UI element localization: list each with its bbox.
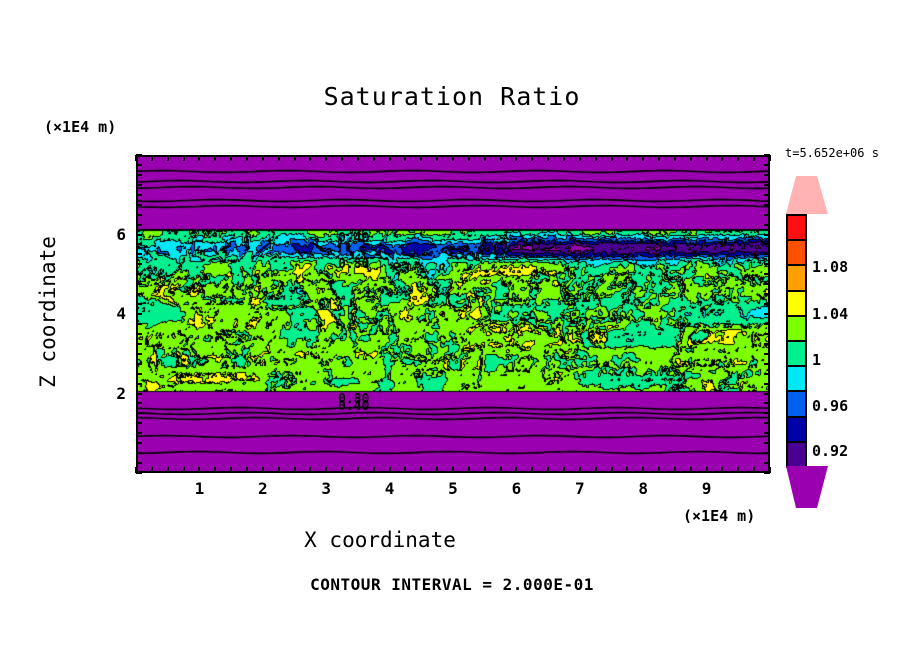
- y-axis-tick-label: 4: [104, 304, 126, 323]
- y-axis-tick: [136, 412, 142, 414]
- x-axis-tick: [674, 467, 676, 473]
- x-axis-tick: [737, 467, 739, 473]
- y-axis-tick: [764, 164, 770, 166]
- colorbar-segment[interactable]: [786, 390, 807, 417]
- x-axis-tick-label: 4: [375, 479, 405, 498]
- y-axis-tick: [764, 224, 770, 226]
- x-axis-tick: [706, 155, 708, 161]
- y-axis-tick: [764, 422, 770, 424]
- y-axis-tick: [764, 243, 770, 245]
- x-axis-tick: [626, 467, 628, 473]
- x-axis-tick: [373, 467, 375, 473]
- y-axis-tick: [764, 313, 770, 315]
- x-axis-tick: [515, 155, 517, 161]
- x-axis-tick: [183, 467, 185, 473]
- x-axis-tick: [452, 467, 454, 473]
- x-axis-tick: [309, 467, 311, 473]
- x-axis-tick: [563, 155, 565, 161]
- y-axis-tick: [764, 253, 770, 255]
- y-axis-tick: [136, 313, 142, 315]
- y-axis-tick: [136, 363, 142, 365]
- x-axis-tick: [595, 155, 597, 161]
- contour-level-label: 0.80: [338, 257, 369, 272]
- y-axis-tick: [136, 472, 142, 474]
- x-axis-tick: [214, 467, 216, 473]
- y-axis-tick: [764, 204, 770, 206]
- colorbar-tick-label: 1.04: [812, 305, 848, 323]
- x-axis-tick: [436, 155, 438, 161]
- x-axis-tick-label: 3: [311, 479, 341, 498]
- colorbar-segment[interactable]: [786, 365, 807, 392]
- y-axis-tick: [136, 154, 142, 156]
- y-axis-tick: [136, 243, 142, 245]
- x-axis-tick: [341, 155, 343, 161]
- contour-field-canvas: [138, 157, 768, 471]
- contour-interval-caption: CONTOUR INTERVAL = 2.000E-01: [0, 575, 904, 594]
- x-axis-tick: [642, 467, 644, 473]
- x-axis-tick: [246, 155, 248, 161]
- y-axis-tick: [136, 293, 142, 295]
- x-axis-tick: [198, 155, 200, 161]
- y-axis-tick: [136, 253, 142, 255]
- x-axis-tick: [214, 155, 216, 161]
- colorbar-segment[interactable]: [786, 264, 807, 291]
- colorbar-tick-label: 1.08: [812, 258, 848, 276]
- colorbar-segment[interactable]: [786, 239, 807, 266]
- x-axis-tick: [230, 467, 232, 473]
- y-axis-tick: [136, 393, 142, 395]
- y-axis-tick: [136, 184, 142, 186]
- x-axis-tick-label: 1: [184, 479, 214, 498]
- x-axis-tick: [547, 467, 549, 473]
- colorbar-segment[interactable]: [786, 441, 807, 468]
- x-axis-tick: [325, 155, 327, 161]
- y-axis-tick: [136, 234, 142, 236]
- x-axis-tick: [373, 155, 375, 161]
- y-axis-tick: [764, 452, 770, 454]
- x-axis-tick: [690, 467, 692, 473]
- x-axis-tick: [500, 467, 502, 473]
- y-axis-tick: [764, 293, 770, 295]
- x-axis-tick-label: 5: [438, 479, 468, 498]
- y-axis-tick: [136, 204, 142, 206]
- x-axis-tick: [246, 467, 248, 473]
- y-axis-tick: [764, 383, 770, 385]
- x-axis-tick: [357, 155, 359, 161]
- x-axis-tick: [484, 155, 486, 161]
- x-axis-tick: [658, 155, 660, 161]
- colorbar-tick-label: 0.92: [812, 442, 848, 460]
- x-axis-tick: [468, 467, 470, 473]
- y-axis-tick: [764, 263, 770, 265]
- x-axis-tick: [389, 467, 391, 473]
- x-axis-tick: [753, 467, 755, 473]
- x-axis-tick: [294, 155, 296, 161]
- y-axis-tick: [764, 412, 770, 414]
- y-axis-tick: [764, 402, 770, 404]
- y-axis-tick: [764, 273, 770, 275]
- y-axis-tick: [136, 442, 142, 444]
- y-axis-tick: [136, 432, 142, 434]
- y-axis-units-label: (×1E4 m): [44, 118, 116, 136]
- x-axis-tick: [515, 467, 517, 473]
- x-axis-tick: [611, 467, 613, 473]
- colorbar-tip-bottom: [786, 466, 828, 508]
- y-axis-tick: [136, 273, 142, 275]
- x-axis-tick-label: 6: [501, 479, 531, 498]
- x-axis-tick: [468, 155, 470, 161]
- y-axis-tick: [136, 343, 142, 345]
- colorbar-tip-top: [786, 176, 828, 214]
- x-axis-tick: [690, 155, 692, 161]
- colorbar-segment[interactable]: [786, 416, 807, 443]
- contour-level-label: 0.40: [338, 399, 369, 414]
- x-axis-tick: [563, 467, 565, 473]
- x-axis-tick: [484, 467, 486, 473]
- x-axis-tick-label: 9: [692, 479, 722, 498]
- x-axis-tick: [420, 155, 422, 161]
- x-axis-tick: [420, 467, 422, 473]
- y-axis-tick: [764, 194, 770, 196]
- y-axis-tick: [764, 283, 770, 285]
- x-axis-tick: [151, 467, 153, 473]
- x-axis-tick: [626, 155, 628, 161]
- colorbar-tick-label: 1: [812, 351, 821, 369]
- contour-level-label: 0.40: [338, 231, 369, 246]
- x-axis-tick: [547, 155, 549, 161]
- y-axis-tick: [764, 353, 770, 355]
- y-axis-tick: [136, 174, 142, 176]
- x-axis-tick-label: 8: [628, 479, 658, 498]
- contour-plot-area[interactable]: [136, 155, 770, 473]
- x-axis-tick: [721, 467, 723, 473]
- x-axis-tick: [151, 155, 153, 161]
- x-axis-tick: [579, 155, 581, 161]
- x-axis-tick: [436, 467, 438, 473]
- y-axis-tick: [136, 462, 142, 464]
- y-axis-tick: [764, 472, 770, 474]
- y-axis-tick: [764, 393, 770, 395]
- x-axis-tick: [452, 155, 454, 161]
- x-axis-tick: [294, 467, 296, 473]
- x-axis-tick: [595, 467, 597, 473]
- y-axis-tick: [764, 432, 770, 434]
- page-title: Saturation Ratio: [0, 82, 904, 111]
- y-axis-tick: [764, 214, 770, 216]
- x-axis-tick: [404, 467, 406, 473]
- y-axis-tick: [136, 452, 142, 454]
- x-axis-tick: [230, 155, 232, 161]
- colorbar-tick-label: 0.96: [812, 397, 848, 415]
- y-axis-tick: [764, 323, 770, 325]
- y-axis-tick: [764, 184, 770, 186]
- x-axis-tick: [341, 467, 343, 473]
- x-axis-tick: [706, 467, 708, 473]
- y-axis-tick: [136, 303, 142, 305]
- x-axis-tick: [183, 155, 185, 161]
- y-axis-tick: [136, 373, 142, 375]
- y-axis-tick: [764, 373, 770, 375]
- y-axis-tick: [764, 174, 770, 176]
- colorbar[interactable]: [786, 214, 807, 466]
- x-axis-tick: [198, 467, 200, 473]
- x-axis-tick: [357, 467, 359, 473]
- x-axis-tick: [611, 155, 613, 161]
- x-axis-tick: [500, 155, 502, 161]
- colorbar-segment[interactable]: [786, 340, 807, 367]
- x-axis-tick: [404, 155, 406, 161]
- x-axis-tick: [658, 467, 660, 473]
- x-axis-tick: [531, 155, 533, 161]
- x-axis-tick: [642, 155, 644, 161]
- y-axis-tick: [136, 164, 142, 166]
- y-axis-tick: [136, 333, 142, 335]
- x-axis-tick: [579, 467, 581, 473]
- x-axis-tick: [278, 155, 280, 161]
- x-axis-tick: [278, 467, 280, 473]
- x-axis-tick: [531, 467, 533, 473]
- x-axis-tick: [262, 467, 264, 473]
- x-axis-tick: [325, 467, 327, 473]
- x-axis-tick: [753, 155, 755, 161]
- y-axis-tick-label: 6: [104, 225, 126, 244]
- colorbar-segment[interactable]: [786, 214, 807, 241]
- y-axis-tick: [764, 462, 770, 464]
- x-axis-tick: [737, 155, 739, 161]
- x-axis-tick: [721, 155, 723, 161]
- y-axis-tick: [136, 194, 142, 196]
- y-axis-tick: [136, 283, 142, 285]
- colorbar-segment[interactable]: [786, 315, 807, 342]
- y-axis-tick: [764, 303, 770, 305]
- x-axis-tick: [674, 155, 676, 161]
- x-axis-tick-label: 7: [565, 479, 595, 498]
- y-axis-tick: [764, 343, 770, 345]
- y-axis-tick: [136, 214, 142, 216]
- y-axis-tick: [136, 263, 142, 265]
- y-axis-tick: [764, 333, 770, 335]
- y-axis-tick-label: 2: [104, 384, 126, 403]
- time-annotation: t=5.652e+06 s: [785, 146, 879, 160]
- y-axis-tick: [136, 323, 142, 325]
- x-axis-tick-label: 2: [248, 479, 278, 498]
- x-axis-tick: [167, 155, 169, 161]
- x-axis-tick: [167, 467, 169, 473]
- x-axis-tick: [309, 155, 311, 161]
- y-axis-tick: [764, 363, 770, 365]
- colorbar-segment[interactable]: [786, 290, 807, 317]
- x-axis-title: X coordinate: [0, 528, 760, 552]
- y-axis-tick: [764, 442, 770, 444]
- y-axis-tick: [136, 224, 142, 226]
- y-axis-tick: [136, 422, 142, 424]
- y-axis-tick: [136, 353, 142, 355]
- y-axis-title: Z coordinate: [36, 222, 60, 402]
- y-axis-tick: [764, 234, 770, 236]
- x-axis-units-label: (×1E4 m): [683, 507, 755, 525]
- x-axis-tick: [389, 155, 391, 161]
- y-axis-tick: [136, 402, 142, 404]
- y-axis-tick: [136, 383, 142, 385]
- y-axis-tick: [764, 154, 770, 156]
- x-axis-tick: [262, 155, 264, 161]
